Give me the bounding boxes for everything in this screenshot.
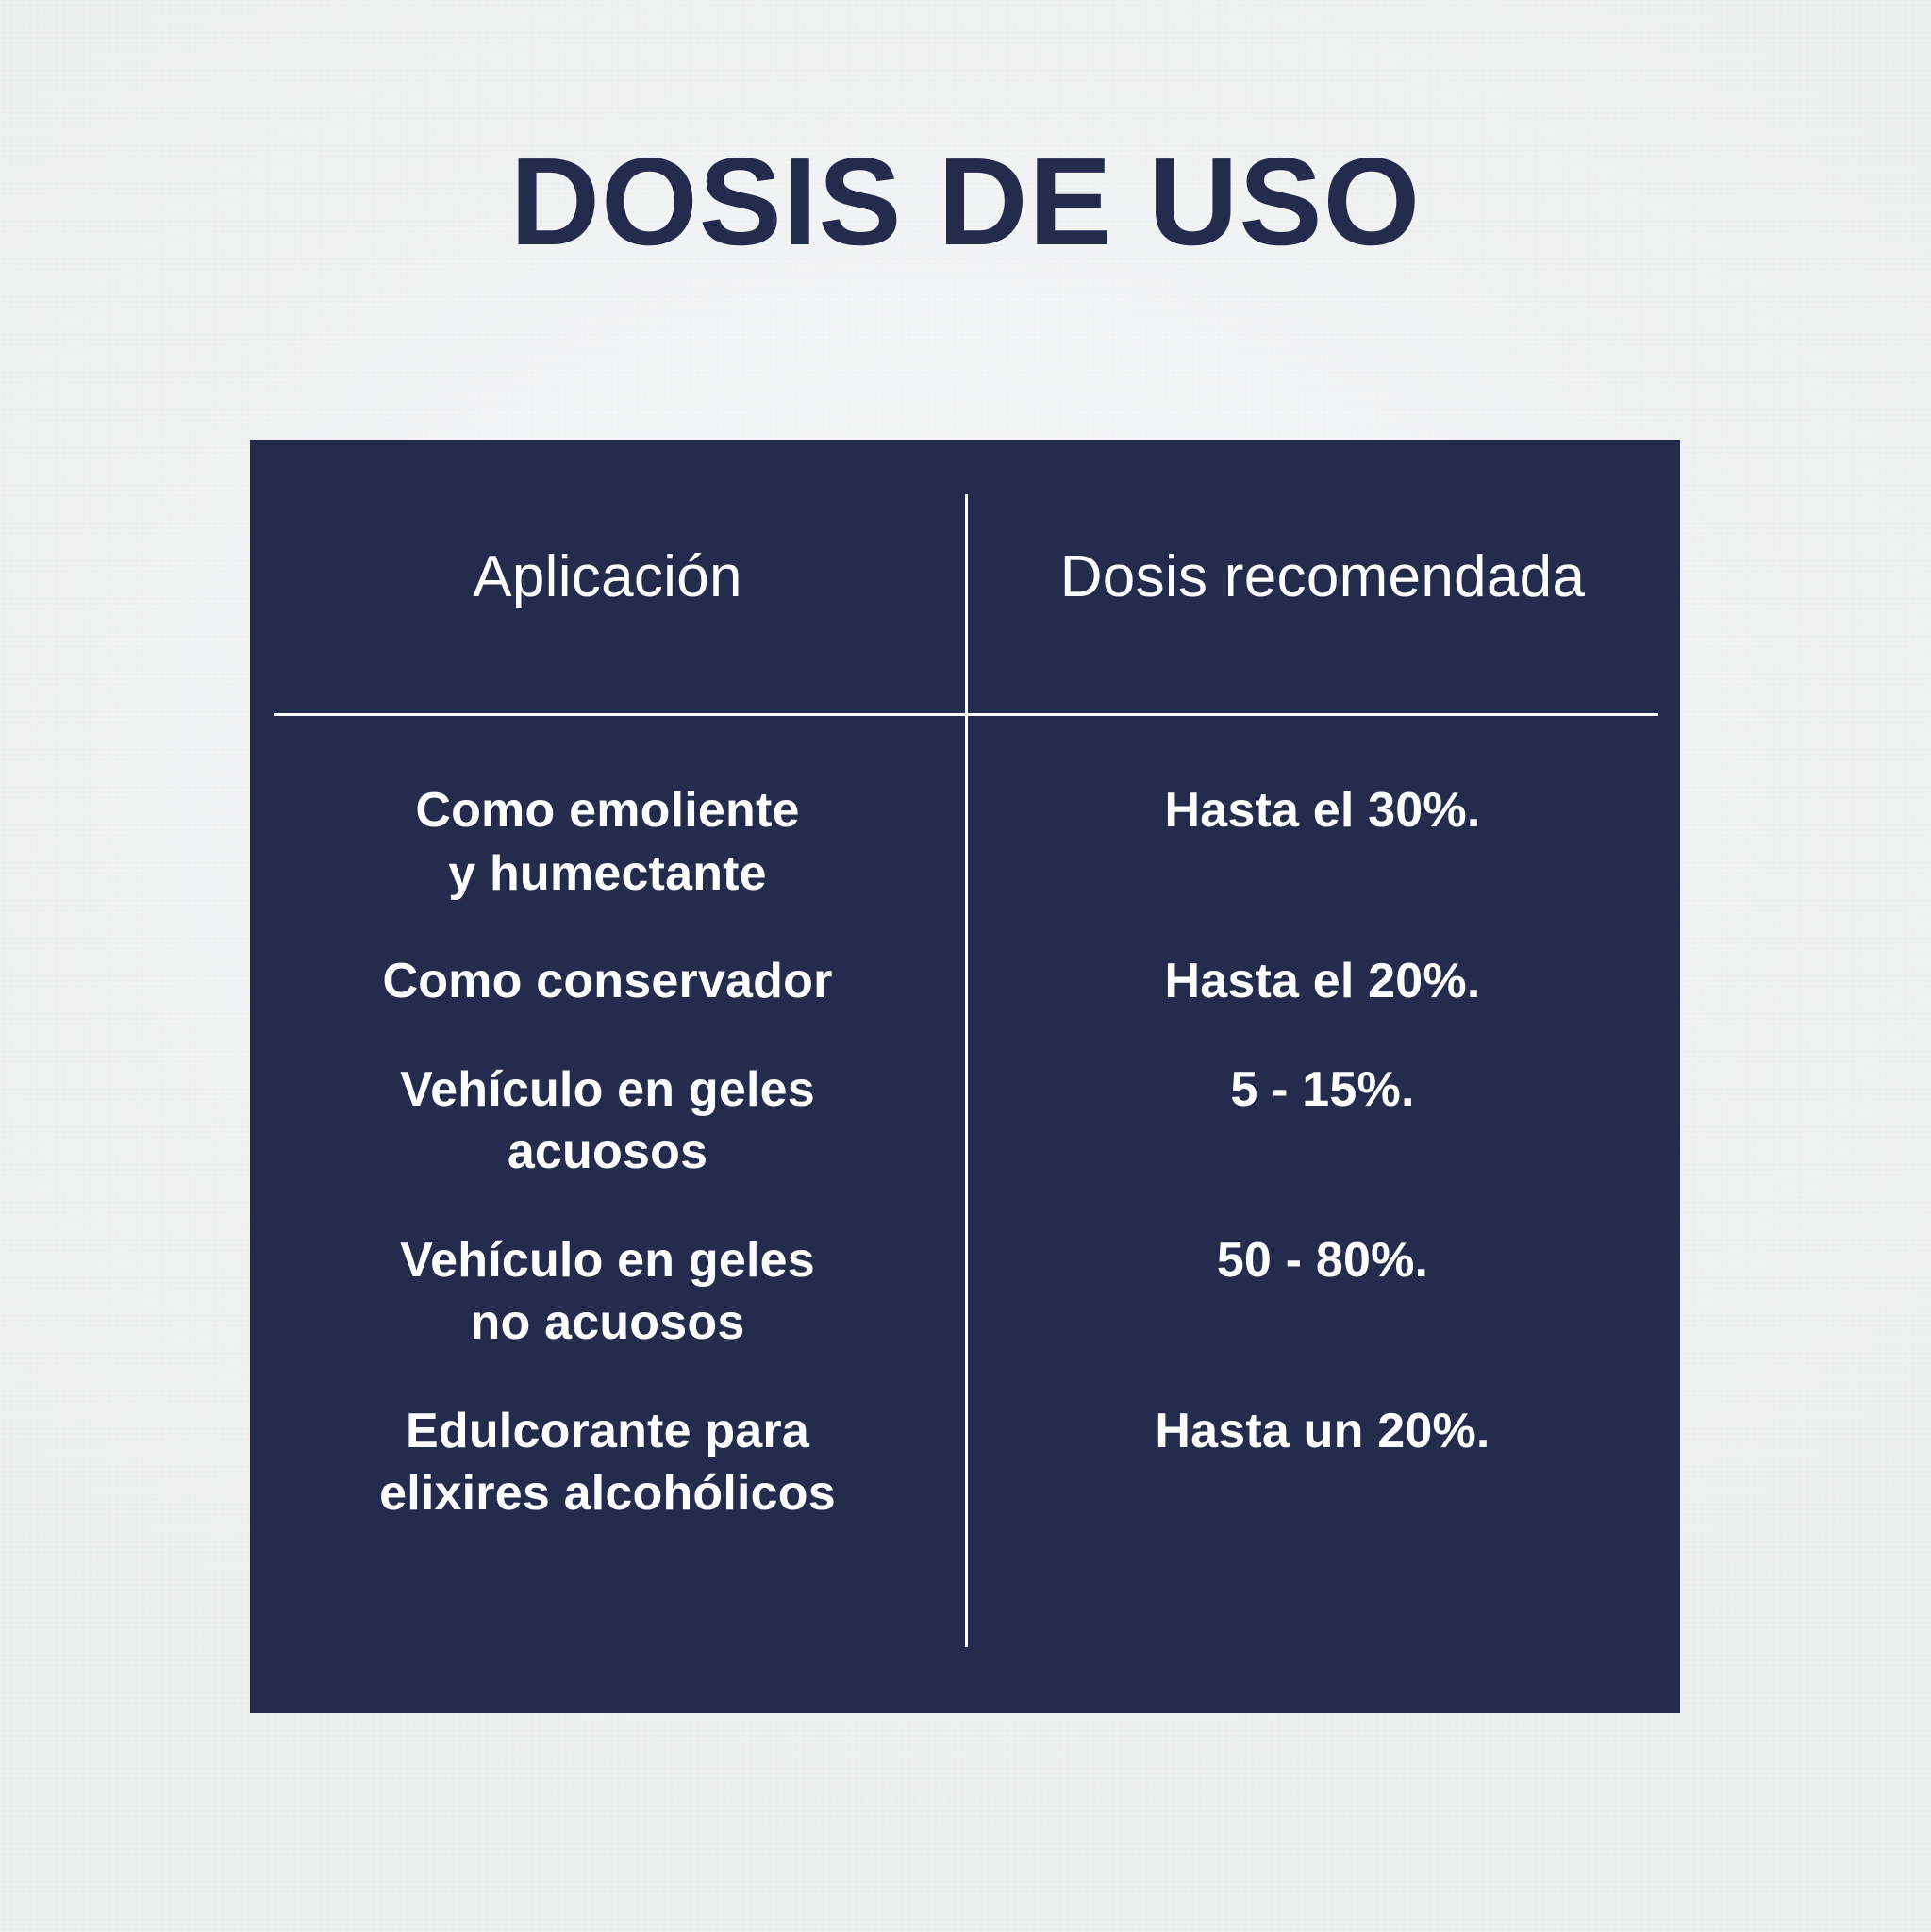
cell-dose: 5 - 15%. <box>965 1058 1680 1122</box>
application-line-1: Vehículo en geles <box>400 1233 815 1288</box>
table-row: Vehículo en geles acuosos 5 - 15%. <box>250 1058 1680 1184</box>
table-body: Como emoliente y humectante Hasta el 30%… <box>250 779 1680 1571</box>
table-header-row: Aplicación Dosis recomendada <box>250 545 1680 609</box>
application-line-1: Como conservador <box>382 954 832 1008</box>
application-line-2: y humectante <box>288 842 927 906</box>
column-header-dose: Dosis recomendada <box>965 545 1680 609</box>
page-title: DOSIS DE USO <box>0 140 1931 264</box>
cell-dose: Hasta un 20%. <box>965 1400 1680 1463</box>
cell-dose: Hasta el 20%. <box>965 950 1680 1013</box>
application-line-2: elixires alcohólicos <box>288 1462 927 1525</box>
poster-canvas: DOSIS DE USO Aplicación Dosis recomendad… <box>0 0 1931 1932</box>
application-line-2: no acuosos <box>288 1291 927 1355</box>
application-line-1: Como emoliente <box>415 783 799 838</box>
application-line-2: acuosos <box>288 1121 927 1184</box>
table-row: Como conservador Hasta el 20%. <box>250 950 1680 1013</box>
cell-application: Vehículo en geles no acuosos <box>250 1229 965 1355</box>
cell-dose: Hasta el 30%. <box>965 779 1680 842</box>
table-row: Vehículo en geles no acuosos 50 - 80%. <box>250 1229 1680 1355</box>
table-row: Edulcorante para elixires alcohólicos Ha… <box>250 1400 1680 1525</box>
cell-application: Vehículo en geles acuosos <box>250 1058 965 1184</box>
cell-application: Como emoliente y humectante <box>250 779 965 905</box>
application-line-1: Edulcorante para <box>406 1404 809 1458</box>
column-header-application: Aplicación <box>250 545 965 609</box>
header-divider <box>274 713 1658 716</box>
table-row: Como emoliente y humectante Hasta el 30%… <box>250 779 1680 905</box>
cell-application: Edulcorante para elixires alcohólicos <box>250 1400 965 1525</box>
dosage-table-panel: Aplicación Dosis recomendada Como emolie… <box>250 440 1680 1713</box>
cell-application: Como conservador <box>250 950 965 1013</box>
cell-dose: 50 - 80%. <box>965 1229 1680 1292</box>
application-line-1: Vehículo en geles <box>400 1062 815 1117</box>
